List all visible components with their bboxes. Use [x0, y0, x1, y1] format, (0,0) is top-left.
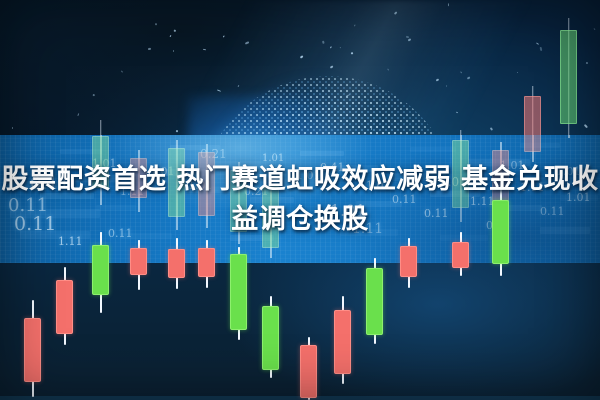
headline-line-2: 益调仓换股: [0, 200, 600, 240]
candle-body: [24, 318, 41, 382]
candle-body: [366, 268, 383, 335]
candle-body: [92, 245, 109, 295]
candle-body: [452, 242, 469, 268]
candle-body: [198, 248, 215, 277]
headline: 股票配资首选 热门赛道虹吸效应减弱 基金兑现收 益调仓换股: [0, 160, 600, 240]
headline-line-1: 股票配资首选 热门赛道虹吸效应减弱 基金兑现收: [0, 160, 600, 200]
candle-body: [168, 249, 185, 278]
candle-body: [230, 254, 247, 330]
banner-image: 0.11 0.21 1.11 3.11 0.111.010.110.111.01…: [0, 0, 600, 400]
candle-body: [262, 306, 279, 370]
candle-body: [300, 345, 317, 398]
candle-body: [130, 248, 147, 275]
candle-body: [400, 246, 417, 277]
candle-body: [56, 280, 73, 334]
candle-body: [334, 310, 351, 374]
